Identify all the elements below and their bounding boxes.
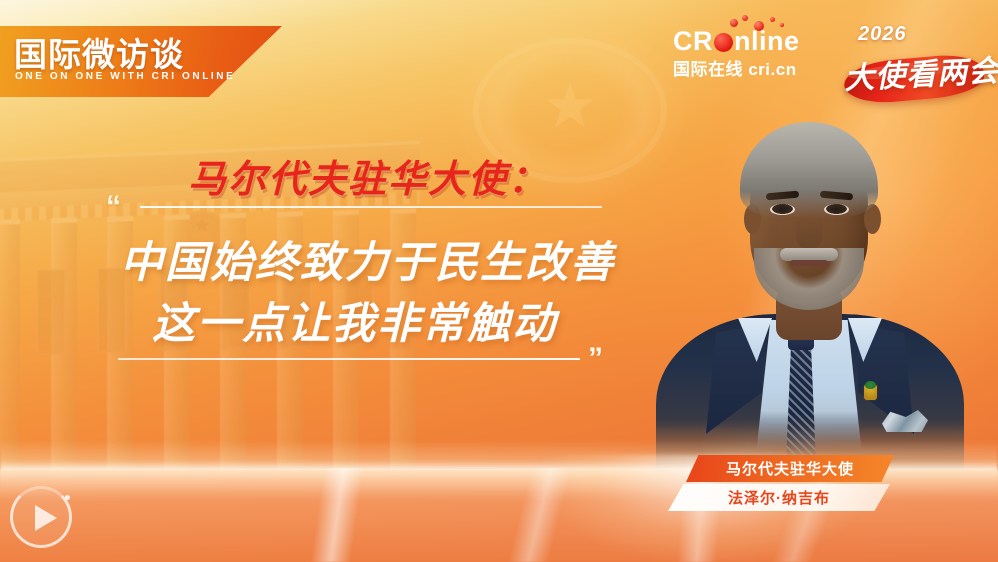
nameplate-name: 法泽尔·纳吉布: [668, 484, 890, 511]
program-title: 国际微访谈: [14, 28, 184, 76]
cri-wordmark: CRnline: [673, 28, 823, 55]
quote-rule-bottom: [118, 358, 580, 360]
cri-wordmark-prefix: CR: [673, 26, 713, 56]
quote-line-1: 中国始终致力于民生改善: [120, 228, 615, 290]
quote-open-mark: “: [106, 192, 121, 222]
quote-line-2: 这一点让我非常触动: [152, 289, 557, 351]
nameplate-title-text: 马尔代夫驻华大使: [726, 458, 854, 479]
nameplate-title: 马尔代夫驻华大使: [686, 455, 894, 482]
nameplate-name-text: 法泽尔·纳吉布: [728, 487, 830, 508]
ambassador-portrait: [620, 92, 998, 492]
cri-online-logo[interactable]: CRnline 国际在线 cri.cn: [673, 28, 823, 78]
campaign-year: 2026: [858, 23, 907, 46]
cri-chinese-label: 国际在线 cri.cn: [673, 61, 823, 78]
program-subtitle: ONE ON ONE WITH CRI ONLINE: [15, 71, 235, 82]
bubbles-icon: [728, 15, 798, 35]
red-dot-icon: [714, 33, 733, 52]
play-button[interactable]: [10, 486, 72, 548]
headline-text: 马尔代夫驻华大使：: [188, 148, 548, 203]
lapel-pin-icon: [864, 384, 877, 400]
quote-rule-top: [140, 206, 602, 208]
progress-dot-icon: [65, 495, 70, 500]
quote-close-mark: ”: [588, 344, 603, 374]
campaign-logo[interactable]: 2026 大使看两会: [836, 22, 992, 114]
interview-poster: ★ 国际微访谈 ONE ON ONE WITH CRI ONLINE 马尔代夫驻…: [0, 0, 998, 562]
campaign-title: 大使看两会: [843, 46, 987, 97]
